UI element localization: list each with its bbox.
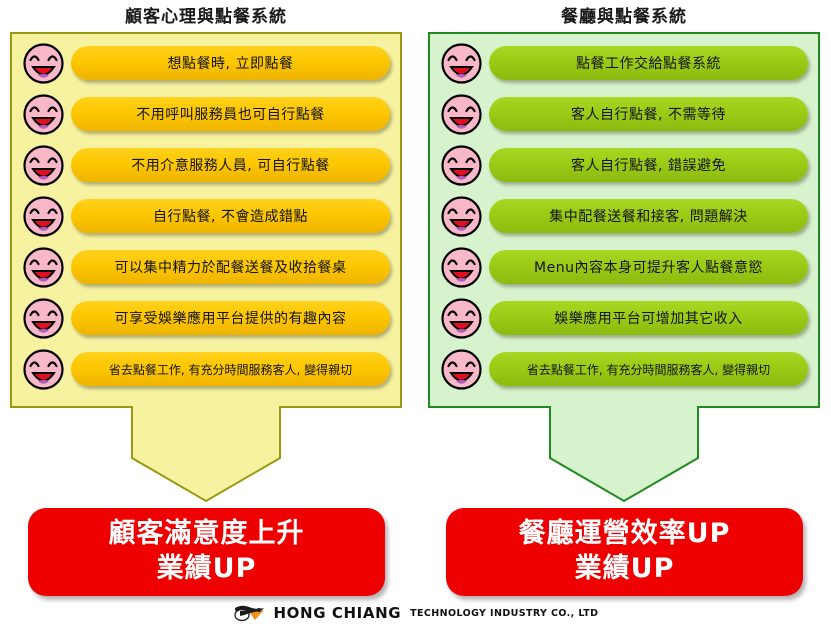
smiley-laughing-icon <box>22 348 65 391</box>
benefit-pill: 不用呼叫服務員也可自行點餐 <box>71 97 390 131</box>
list-item[interactable]: 省去點餐工作, 有充分時間服務客人, 變得親切 <box>22 346 390 392</box>
smiley-laughing-icon <box>440 297 483 340</box>
result-box-restaurant: 餐廳運營效率UP 業績UP <box>446 508 803 596</box>
smiley-laughing-icon <box>22 93 65 136</box>
smiley-laughing-icon <box>440 42 483 85</box>
benefit-pill: 省去點餐工作, 有充分時間服務客人, 變得親切 <box>489 352 808 386</box>
column-title-customer: 顧客心理與點餐系統 <box>10 2 402 27</box>
column-title-restaurant: 餐廳與點餐系統 <box>428 2 820 27</box>
smiley-laughing-icon <box>22 246 65 289</box>
result-line-1: 餐廳運營效率UP <box>519 518 731 551</box>
list-item[interactable]: 不用呼叫服務員也可自行點餐 <box>22 91 390 137</box>
list-item[interactable]: Menu內容本身可提升客人點餐意慾 <box>440 244 808 290</box>
benefit-list-customer: 想點餐時, 立即點餐 不用呼叫服務員也可自行點餐 <box>12 34 400 406</box>
list-item[interactable]: 不用介意服務人員, 可自行點餐 <box>22 142 390 188</box>
logo-company-name: HONG CHIANG <box>274 604 402 622</box>
down-arrow-icon <box>549 406 699 503</box>
list-item[interactable]: 自行點餐, 不會造成錯點 <box>22 193 390 239</box>
benefit-pill: Menu內容本身可提升客人點餐意慾 <box>489 250 808 284</box>
list-item[interactable]: 可以集中精力於配餐送餐及收拾餐桌 <box>22 244 390 290</box>
benefit-pill: 可以集中精力於配餐送餐及收拾餐桌 <box>71 250 390 284</box>
list-item[interactable]: 客人自行點餐, 不需等待 <box>440 91 808 137</box>
benefit-pill: 客人自行點餐, 不需等待 <box>489 97 808 131</box>
diagram-canvas: 顧客心理與點餐系統 餐廳與點餐系統 想點餐時, 立即點餐 <box>0 0 831 626</box>
smiley-laughing-icon <box>440 144 483 187</box>
down-arrow-icon <box>131 406 281 503</box>
benefit-list-restaurant: 點餐工作交給點餐系統 客人自行點餐, 不需等待 <box>430 34 818 406</box>
result-box-customer: 顧客滿意度上升 業績UP <box>28 508 385 596</box>
hong-chiang-logo-icon <box>233 604 267 622</box>
list-item[interactable]: 可享受娛樂應用平台提供的有趣內容 <box>22 295 390 341</box>
smiley-laughing-icon <box>440 348 483 391</box>
list-item[interactable]: 集中配餐送餐和接客, 問題解決 <box>440 193 808 239</box>
smiley-laughing-icon <box>22 42 65 85</box>
result-line-2: 業績UP <box>157 553 257 586</box>
list-item[interactable]: 客人自行點餐, 錯誤避免 <box>440 142 808 188</box>
benefit-pill: 自行點餐, 不會造成錯點 <box>71 199 390 233</box>
logo-tagline: TECHNOLOGY INDUSTRY CO., LTD <box>410 608 598 619</box>
benefit-pill: 集中配餐送餐和接客, 問題解決 <box>489 199 808 233</box>
list-item[interactable]: 點餐工作交給點餐系統 <box>440 40 808 86</box>
benefit-pill: 可享受娛樂應用平台提供的有趣內容 <box>71 301 390 335</box>
smiley-laughing-icon <box>22 297 65 340</box>
smiley-laughing-icon <box>440 93 483 136</box>
result-line-2: 業績UP <box>575 553 675 586</box>
benefit-pill: 點餐工作交給點餐系統 <box>489 46 808 80</box>
benefit-pill: 不用介意服務人員, 可自行點餐 <box>71 148 390 182</box>
list-item[interactable]: 想點餐時, 立即點餐 <box>22 40 390 86</box>
smiley-laughing-icon <box>22 195 65 238</box>
panel-restaurant: 點餐工作交給點餐系統 客人自行點餐, 不需等待 <box>428 32 820 408</box>
smiley-laughing-icon <box>22 144 65 187</box>
footer-logo: HONG CHIANG TECHNOLOGY INDUSTRY CO., LTD <box>0 600 831 626</box>
result-line-1: 顧客滿意度上升 <box>109 518 305 551</box>
smiley-laughing-icon <box>440 246 483 289</box>
smiley-laughing-icon <box>440 195 483 238</box>
list-item[interactable]: 娛樂應用平台可增加其它收入 <box>440 295 808 341</box>
benefit-pill: 想點餐時, 立即點餐 <box>71 46 390 80</box>
list-item[interactable]: 省去點餐工作, 有充分時間服務客人, 變得親切 <box>440 346 808 392</box>
benefit-pill: 娛樂應用平台可增加其它收入 <box>489 301 808 335</box>
benefit-pill: 客人自行點餐, 錯誤避免 <box>489 148 808 182</box>
panel-customer: 想點餐時, 立即點餐 不用呼叫服務員也可自行點餐 <box>10 32 402 408</box>
benefit-pill: 省去點餐工作, 有充分時間服務客人, 變得親切 <box>71 352 390 386</box>
